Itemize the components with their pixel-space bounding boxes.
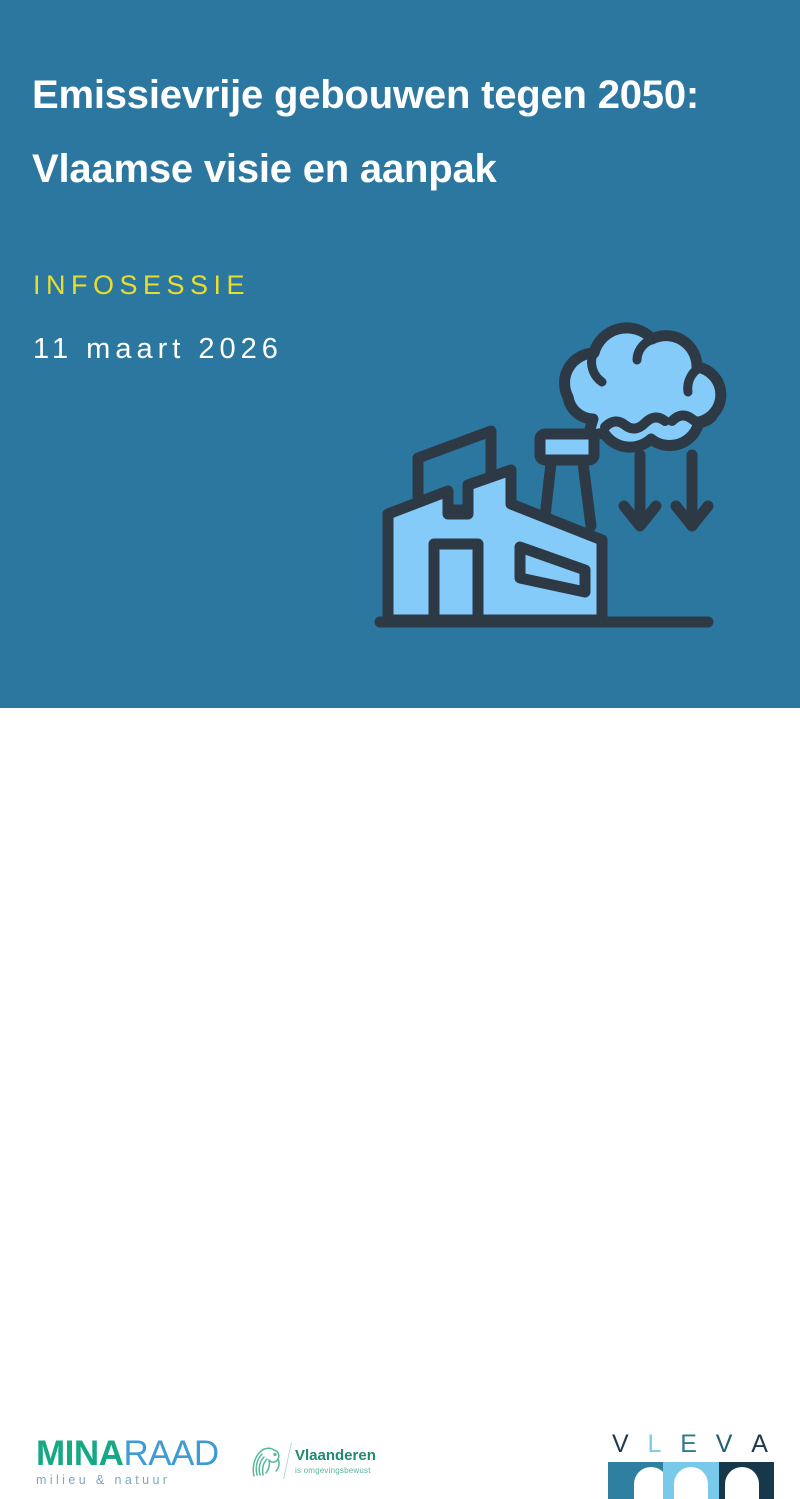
- vlaanderen-logo: Vlaanderen is omgevingsbewust: [246, 1442, 376, 1480]
- minaraad-tagline: milieu & natuur: [36, 1473, 219, 1487]
- vleva-logo: V L E V A: [608, 1430, 774, 1499]
- vlaanderen-name: Vlaanderen: [295, 1447, 376, 1464]
- vleva-arch-1: [634, 1467, 663, 1499]
- vlaanderen-tagline: is omgevingsbewust: [295, 1467, 376, 1475]
- vleva-letter-4: V: [716, 1430, 733, 1458]
- poster-footer: MINARAAD milieu & natuur: [0, 708, 800, 800]
- vleva-bar-2: [663, 1462, 718, 1499]
- minaraad-word-primary: MINA: [36, 1434, 123, 1473]
- vleva-bar-1: [608, 1462, 663, 1499]
- minaraad-word-secondary: RAAD: [123, 1434, 218, 1473]
- vlaanderen-text: Vlaanderen is omgevingsbewust: [295, 1448, 376, 1475]
- event-date: 11 maart 2026: [33, 333, 283, 366]
- minaraad-name: MINARAAD: [36, 1436, 219, 1472]
- vleva-arch-3: [725, 1467, 759, 1499]
- page-title: Emissievrije gebouwen tegen 2050: Vlaams…: [32, 58, 762, 206]
- minaraad-logo: MINARAAD milieu & natuur: [36, 1436, 219, 1487]
- vleva-arch-2: [674, 1467, 708, 1499]
- headline-line-1: Emissievrije gebouwen tegen 2050:: [32, 58, 762, 132]
- promo-poster: Emissievrije gebouwen tegen 2050: Vlaams…: [0, 0, 800, 800]
- vleva-letter-2: L: [648, 1430, 662, 1458]
- factory-emissions-illustration: [372, 282, 732, 642]
- headline-line-2: Vlaamse visie en aanpak: [32, 132, 762, 206]
- vleva-arch-bars: [608, 1462, 774, 1499]
- poster-blue-panel: Emissievrije gebouwen tegen 2050: Vlaams…: [0, 0, 800, 708]
- vleva-bar-3: [719, 1462, 774, 1499]
- vleva-letter-1: V: [612, 1430, 629, 1458]
- minaraad-wordmark: MINARAAD milieu & natuur: [36, 1436, 219, 1487]
- vleva-letter-5: A: [751, 1430, 768, 1458]
- event-kicker: INFOSESSIE: [33, 270, 250, 301]
- flemish-lion-icon: [246, 1442, 286, 1480]
- vleva-letters: V L E V A: [608, 1430, 774, 1458]
- vleva-letter-3: E: [680, 1430, 697, 1458]
